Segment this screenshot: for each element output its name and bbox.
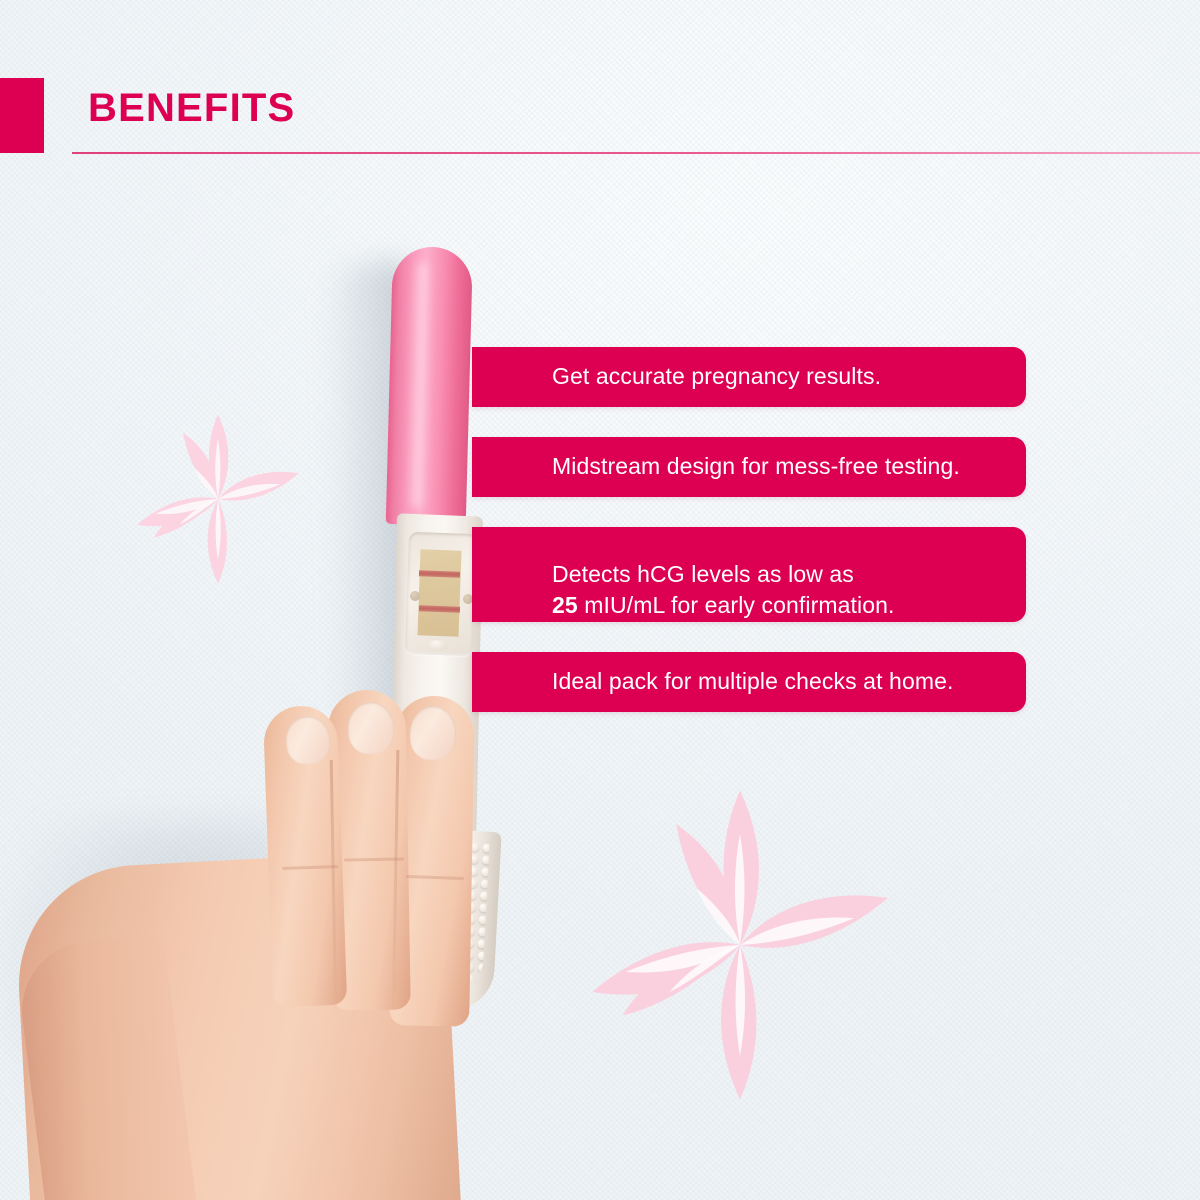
benefit-banner-accuracy[interactable]: Get accurate pregnancy results. — [472, 347, 1026, 407]
benefit-banner-multipack[interactable]: Ideal pack for multiple checks at home. — [472, 652, 1026, 712]
benefit-banner-sensitivity[interactable]: Detects hCG levels as low as 25 mIU/mL f… — [472, 527, 1026, 622]
header-divider — [72, 152, 1200, 154]
accent-block — [0, 78, 44, 153]
benefit-label-midstream: Midstream design for mess-free testing. — [472, 451, 960, 482]
benefit-label-sensitivity: Detects hCG levels as low as 25 mIU/mL f… — [472, 528, 894, 621]
benefit-sensitivity-suffix: mIU/mL for early confirmation. — [578, 592, 895, 618]
benefits-slide: BENEFITS Get accurate pregnancy results.… — [0, 0, 1200, 1200]
fingernail-middle — [348, 702, 395, 755]
fingernail-ring — [409, 705, 457, 761]
benefit-label-multipack: Ideal pack for multiple checks at home. — [472, 666, 953, 697]
benefit-sensitivity-value: 25 — [552, 592, 578, 618]
benefit-banner-midstream[interactable]: Midstream design for mess-free testing. — [472, 437, 1026, 497]
benefit-sensitivity-prefix: Detects hCG levels as low as — [552, 561, 854, 587]
page-title: BENEFITS — [88, 88, 295, 128]
benefit-label-accuracy: Get accurate pregnancy results. — [472, 361, 881, 392]
